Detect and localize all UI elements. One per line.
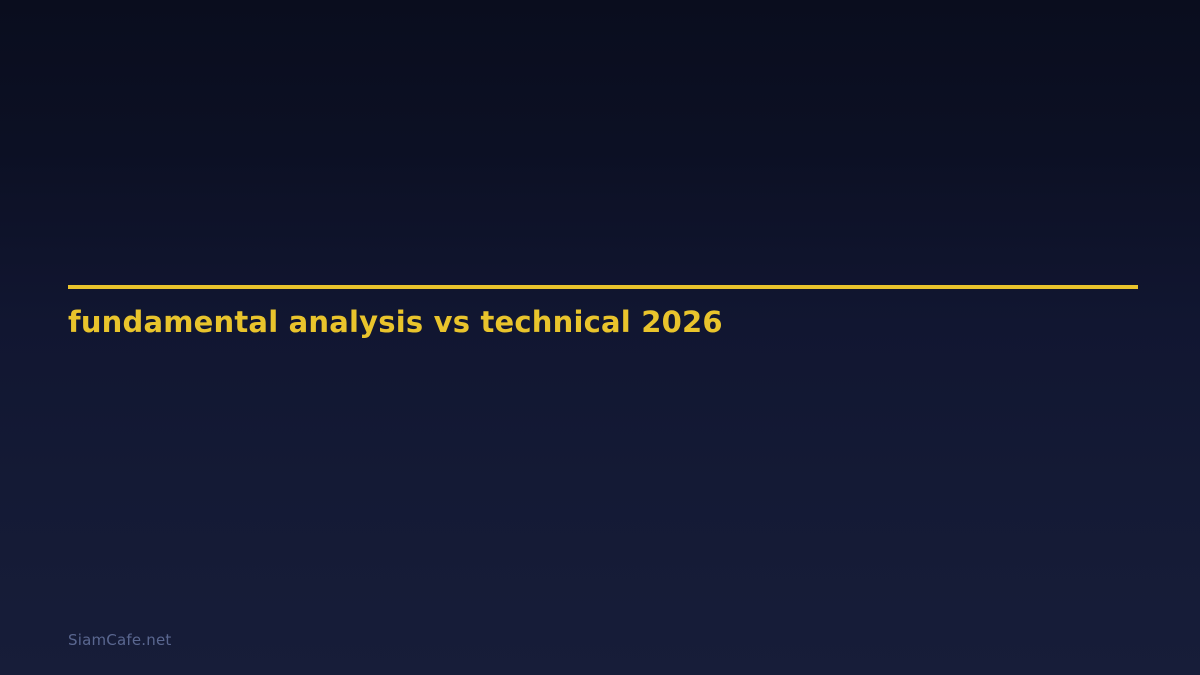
title-block: fundamental analysis vs technical 2026 [68,285,1138,339]
title-slide: fundamental analysis vs technical 2026 S… [0,0,1200,675]
footer: SiamCafe.net [68,630,171,649]
footer-brand-label: SiamCafe.net [68,631,171,649]
page-title: fundamental analysis vs technical 2026 [68,289,1138,339]
